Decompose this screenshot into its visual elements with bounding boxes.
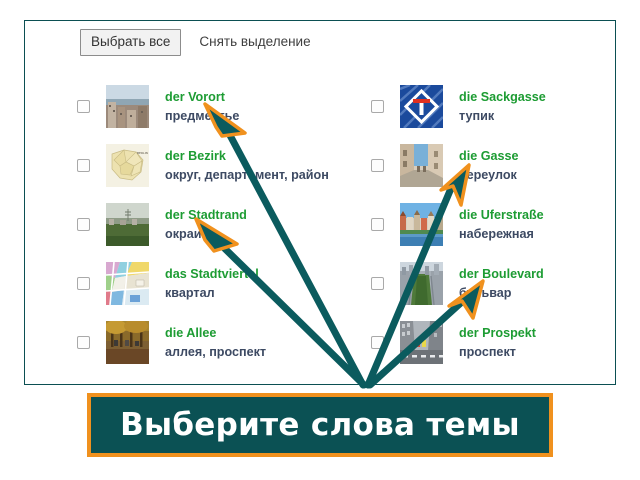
word-checkbox[interactable]	[77, 277, 90, 290]
word-thumbnail-berlin-districts-map[interactable]: BERLIN	[106, 144, 149, 187]
word-row[interactable]: die Uferstraße набережная	[371, 195, 615, 254]
word-thumbnail-dead-end-road-sign[interactable]	[400, 85, 443, 128]
word-thumbnail-suburb-skyline-photo[interactable]	[106, 85, 149, 128]
word-thumbnail-tree-lined-avenue-photo[interactable]	[106, 321, 149, 364]
word-texts: das Stadtviertel квартал	[165, 266, 259, 301]
word-texts: der Stadtrand окраина	[165, 207, 247, 242]
word-grid: der Vorort предместье	[25, 77, 615, 372]
word-checkbox[interactable]	[77, 218, 90, 231]
russian-translation: тупик	[459, 108, 546, 125]
word-column-right: die Sackgasse тупик	[320, 77, 615, 372]
word-checkbox[interactable]	[371, 100, 384, 113]
word-row[interactable]: die Allee аллея, проспект	[77, 313, 320, 372]
clear-selection-button[interactable]: Снять выделение	[195, 30, 314, 55]
russian-translation: аллея, проспект	[165, 344, 266, 361]
russian-translation: округ, департамент, район	[165, 167, 329, 184]
word-thumbnail-aerial-boulevard-photo[interactable]	[400, 262, 443, 305]
instruction-banner-text: Выберите слова темы	[120, 407, 520, 443]
word-row[interactable]: die Gasse переулок	[371, 136, 615, 195]
word-checkbox[interactable]	[371, 336, 384, 349]
german-word: der Vorort	[165, 89, 239, 106]
word-texts: die Allee аллея, проспект	[165, 325, 266, 360]
word-checkbox[interactable]	[77, 100, 90, 113]
word-row[interactable]: BERLIN der Bezirk округ, департамент, ра…	[77, 136, 320, 195]
svg-text:BERLIN: BERLIN	[137, 151, 148, 155]
word-row[interactable]: der Boulevard бульвар	[371, 254, 615, 313]
word-texts: die Uferstraße набережная	[459, 207, 544, 242]
word-texts: die Gasse переулок	[459, 148, 519, 183]
word-row[interactable]: das Stadtviertel квартал	[77, 254, 320, 313]
german-word: die Uferstraße	[459, 207, 544, 224]
word-list-card: Выбрать все Снять выделение	[24, 20, 616, 385]
word-row[interactable]: der Vorort предместье	[77, 77, 320, 136]
german-word: der Bezirk	[165, 148, 329, 165]
word-column-left: der Vorort предместье	[25, 77, 320, 372]
word-texts: der Boulevard бульвар	[459, 266, 544, 301]
word-checkbox[interactable]	[77, 336, 90, 349]
word-thumbnail-city-edge-field-photo[interactable]	[106, 203, 149, 246]
word-row[interactable]: der Prospekt проспект	[371, 313, 615, 372]
instruction-banner: Выберите слова темы	[87, 393, 553, 457]
german-word: der Stadtrand	[165, 207, 247, 224]
select-all-button[interactable]: Выбрать все	[80, 29, 181, 56]
german-word: die Sackgasse	[459, 89, 546, 106]
russian-translation: квартал	[165, 285, 259, 302]
word-row[interactable]: die Sackgasse тупик	[371, 77, 615, 136]
russian-translation: набережная	[459, 226, 544, 243]
german-word: die Gasse	[459, 148, 519, 165]
russian-translation: предместье	[165, 108, 239, 125]
word-thumbnail-waterfront-houses-photo[interactable]	[400, 203, 443, 246]
german-word: der Boulevard	[459, 266, 544, 283]
word-checkbox[interactable]	[371, 218, 384, 231]
word-thumbnail-narrow-alley-photo[interactable]	[400, 144, 443, 187]
german-word: der Prospekt	[459, 325, 536, 342]
word-checkbox[interactable]	[77, 159, 90, 172]
word-checkbox[interactable]	[371, 277, 384, 290]
russian-translation: проспект	[459, 344, 536, 361]
word-checkbox[interactable]	[371, 159, 384, 172]
german-word: die Allee	[165, 325, 266, 342]
word-row[interactable]: der Stadtrand окраина	[77, 195, 320, 254]
word-texts: der Vorort предместье	[165, 89, 239, 124]
russian-translation: окраина	[165, 226, 247, 243]
selection-toolbar: Выбрать все Снять выделение	[80, 29, 315, 56]
word-texts: der Prospekt проспект	[459, 325, 536, 360]
russian-translation: переулок	[459, 167, 519, 184]
german-word: das Stadtviertel	[165, 266, 259, 283]
russian-translation: бульвар	[459, 285, 544, 302]
word-texts: der Bezirk округ, департамент, район	[165, 148, 329, 183]
word-thumbnail-colorful-city-block-map[interactable]	[106, 262, 149, 305]
word-texts: die Sackgasse тупик	[459, 89, 546, 124]
lesson-word-selection-screen: Выбрать все Снять выделение	[0, 0, 640, 480]
word-thumbnail-wide-city-street-photo[interactable]	[400, 321, 443, 364]
